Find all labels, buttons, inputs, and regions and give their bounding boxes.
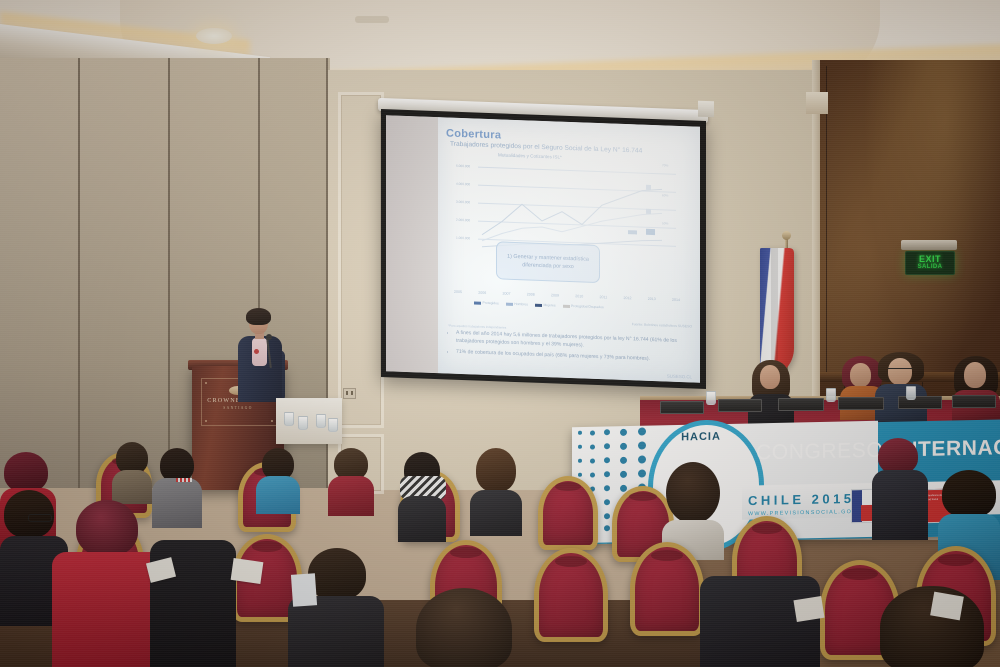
slide-footer-brand: SUSESO.CL (667, 374, 692, 380)
audience-person (398, 452, 446, 524)
audience-person (112, 442, 152, 496)
flag-fold-shadow (771, 248, 778, 378)
nameplate-1 (660, 401, 704, 414)
podium-city-label: SANTIAGO (201, 406, 275, 410)
nameplate-2 (718, 399, 762, 412)
chart-ytick-3: 3.000.000 (456, 200, 470, 205)
xtick-2005: 2005 (454, 290, 462, 294)
chart-legend: Protegidos Hombres Mujeres Protegidos/Oc… (474, 300, 654, 311)
slide-callout-box: 1) Generar y mantener estadística difere… (496, 241, 600, 283)
microphone-icon (266, 334, 272, 340)
audience-person (328, 448, 374, 508)
ceiling-vent (355, 16, 389, 23)
slide-subtitle-secondary: Mutualidades y Cotizantes ISL* (498, 152, 562, 159)
exit-sign-bracket (901, 240, 957, 250)
slide-chart-source: Fuente: Boletines estadísticos SUSESO (632, 322, 692, 328)
slide-bullet-list: A fines del año 2014 hay 5,6 millones de… (448, 330, 700, 369)
chart-ytick-4: 4.000.000 (456, 182, 470, 187)
audience-person (52, 500, 164, 660)
wood-panel-seam (826, 66, 827, 386)
table-water-glass-1 (706, 391, 716, 405)
xtick-2007: 2007 (503, 292, 511, 296)
xtick-2012: 2012 (623, 296, 631, 300)
projected-slide: Cobertura Trabajadores protegidos por el… (438, 117, 700, 383)
pillar-capital (806, 92, 828, 114)
ceiling-downlight (196, 28, 232, 44)
xtick-2010: 2010 (575, 294, 583, 298)
audience-person (256, 448, 300, 506)
projection-screen-surface: Cobertura Trabajadores protegidos por el… (386, 115, 700, 383)
audience-person (700, 576, 820, 667)
screen-unlit-margin (386, 115, 438, 373)
chair[interactable] (534, 548, 608, 642)
table-water-glass-3 (906, 386, 916, 400)
exit-sign-label-es: SALIDA (906, 264, 954, 270)
audience-person (288, 548, 384, 667)
legend-item-protegidos-ocupados: Protegidos/Ocupados (563, 304, 604, 310)
chair[interactable] (538, 476, 598, 550)
xtick-2013: 2013 (648, 297, 656, 301)
panelist-3-eyeglasses-icon (888, 368, 912, 374)
nameplate-5 (898, 396, 942, 409)
speaker-badge (254, 349, 259, 354)
nameplate-4 (838, 397, 884, 410)
handout-paper (231, 558, 264, 584)
speaker-hair (246, 308, 271, 325)
chart-ytick-1: 1.000.000 (456, 236, 470, 241)
nameplate-6 (952, 395, 996, 408)
slide-chart: 5.000.000 4.000.000 3.000.000 2.000.000 … (456, 160, 682, 286)
slide-subtitle: Trabajadores protegidos por el Seguro So… (450, 141, 700, 157)
exit-sign: EXIT SALIDA (905, 251, 955, 275)
audience-person (470, 448, 522, 524)
legend-item-mujeres: Mujeres (535, 303, 556, 308)
handout-paper (291, 573, 317, 607)
audience-person (398, 588, 528, 667)
xtick-2008: 2008 (527, 292, 535, 296)
xtick-2009: 2009 (551, 293, 559, 297)
legend-item-hombres: Hombres (506, 302, 528, 307)
banner-congreso-word: CONGRESO (756, 439, 883, 465)
banner-hacia-text: HACIA (664, 430, 738, 444)
wall-power-outlet (343, 388, 356, 399)
chart-y2tick-4: 70% (662, 163, 668, 167)
banner-chile-year: CHILE 2015 (748, 491, 855, 508)
chart-ytick-5: 5.000.000 (456, 164, 470, 169)
audience-person (860, 586, 1000, 667)
handout-paper (930, 592, 964, 621)
nameplate-3 (778, 398, 824, 411)
xtick-2014: 2014 (672, 298, 680, 302)
flag-pole-finial (782, 231, 791, 240)
lanyard-icon (176, 478, 192, 482)
conference-hall-photo: EXIT SALIDA Cobertura Trabajadores prote… (0, 0, 1000, 667)
chart-ytick-2: 2.000.000 (456, 218, 470, 223)
chair[interactable] (630, 542, 704, 636)
wall-molding-upper (338, 92, 384, 428)
handout-paper (793, 596, 824, 622)
slide-footnote: *Para aquellos trabajadores independient… (448, 324, 506, 330)
table-water-glass-2 (826, 388, 836, 402)
audience-person (662, 462, 724, 548)
water-side-table (276, 398, 342, 444)
xtick-2011: 2011 (600, 295, 608, 299)
eyeglasses-icon (28, 514, 52, 522)
projection-screen-bracket (698, 101, 714, 118)
exit-sign-label-en: EXIT (906, 254, 954, 264)
xtick-2006: 2006 (478, 291, 486, 295)
slide-title: Cobertura (446, 127, 501, 141)
legend-item-protegidos: Protegidos (474, 300, 499, 305)
audience-person (872, 438, 928, 530)
